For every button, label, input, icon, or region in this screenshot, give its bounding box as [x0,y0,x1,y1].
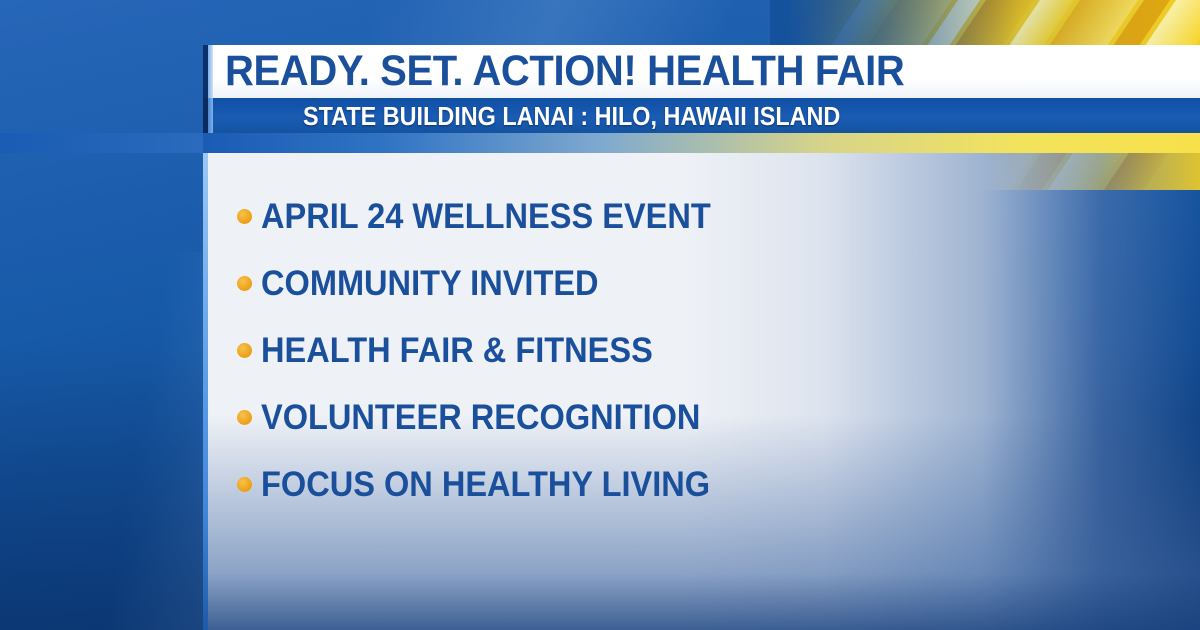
headline-edge-highlight [208,45,213,98]
transition-band [203,133,1200,153]
list-item: HEALTH FAIR & FITNESS [237,317,1200,384]
list-item: APRIL 24 WELLNESS EVENT [237,183,1200,250]
content-panel: APRIL 24 WELLNESS EVENT COMMUNITY INVITE… [208,153,1200,630]
list-item-label: APRIL 24 WELLNESS EVENT [261,199,711,234]
subhead-edge-highlight [208,98,213,133]
bullet-dot-icon [237,276,252,291]
list-item-label: FOCUS ON HEALTHY LIVING [261,467,710,502]
list-item-label: COMMUNITY INVITED [261,266,599,301]
bullet-dot-icon [237,410,252,425]
list-item-label: VOLUNTEER RECOGNITION [261,400,700,435]
transition-band-left [0,133,205,153]
headline-bar: READY. SET. ACTION! HEALTH FAIR [203,45,1200,98]
subhead-text: STATE BUILDING LANAI : HILO, HAWAII ISLA… [303,103,840,129]
headline-text: READY. SET. ACTION! HEALTH FAIR [225,50,904,93]
list-item-label: HEALTH FAIR & FITNESS [261,333,653,368]
subhead-bar: STATE BUILDING LANAI : HILO, HAWAII ISLA… [203,98,1200,133]
bullet-dot-icon [237,477,252,492]
bullet-dot-icon [237,343,252,358]
bullet-list: APRIL 24 WELLNESS EVENT COMMUNITY INVITE… [237,183,1200,518]
bullet-dot-icon [237,209,252,224]
list-item: VOLUNTEER RECOGNITION [237,384,1200,451]
broadcast-graphic: READY. SET. ACTION! HEALTH FAIR STATE BU… [0,0,1200,630]
list-item: FOCUS ON HEALTHY LIVING [237,451,1200,518]
list-item: COMMUNITY INVITED [237,250,1200,317]
